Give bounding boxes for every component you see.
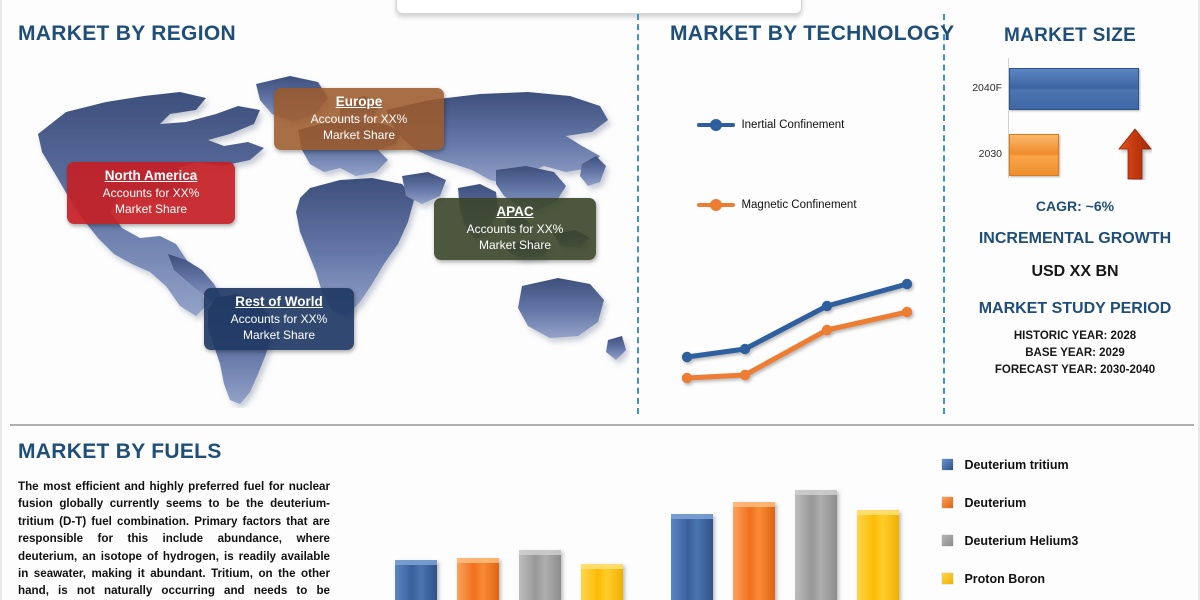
horizontal-divider [10, 424, 1194, 426]
region-callout-europe[interactable]: Europe Accounts for XX% Market Share [274, 88, 444, 150]
top-title-banner [396, 0, 802, 14]
legend-label: Inertial Confinement [741, 119, 844, 131]
base-year-label: BASE YEAR: 2029 [950, 347, 1200, 359]
region-name: APAC [444, 203, 586, 220]
legend-marker-icon [697, 203, 735, 207]
region-line-1: Accounts for XX% [214, 312, 344, 327]
incremental-growth-title: INCREMENTAL GROWTH [950, 230, 1200, 248]
region-name: Rest of World [214, 293, 344, 310]
region-name: Europe [284, 93, 434, 110]
legend-swatch-icon [942, 497, 953, 508]
market-size-panel: 2040F 2030 CAGR: ~6% INCRE [950, 58, 1200, 408]
bar-2040f [1009, 68, 1139, 110]
legend-label: Deuterium Helium3 [964, 534, 1078, 548]
infographic-page: MARKET BY REGION [0, 0, 1200, 600]
legend-item-deuterium-tritium[interactable]: Deuterium tritium [942, 456, 1192, 494]
legend-marker-icon [697, 123, 735, 127]
technology-line-chart: Inertial Confinement Magnetic Confinemen… [647, 60, 937, 405]
fuels-legend: Deuterium tritium Deuterium Deuterium He… [942, 456, 1192, 600]
line-plot-area [667, 260, 937, 390]
legend-item-inertial-confinement[interactable]: Inertial Confinement [697, 116, 937, 134]
region-line-2: Market Share [284, 128, 434, 143]
region-line-1: Accounts for XX% [77, 186, 225, 201]
region-callout-apac[interactable]: APAC Accounts for XX% Market Share [434, 198, 596, 260]
legend-label: Deuterium tritium [964, 458, 1068, 472]
section-title-market-size: MARKET SIZE [1004, 25, 1136, 47]
historic-year-label: HISTORIC YEAR: 2028 [950, 330, 1200, 342]
region-line-2: Market Share [444, 238, 586, 253]
forecast-year-label: FORECAST YEAR: 2030-2040 [950, 364, 1200, 376]
vertical-divider-left [637, 14, 639, 414]
legend-label: Proton Boron [964, 572, 1045, 586]
section-title-market-by-region: MARKET BY REGION [18, 22, 236, 46]
legend-swatch-icon [942, 459, 953, 470]
market-study-period-title: MARKET STUDY PERIOD [950, 300, 1200, 318]
growth-up-arrow-icon [1118, 128, 1152, 180]
vertical-divider-right [943, 14, 945, 414]
legend-item-magnetic-confinement[interactable]: Magnetic Confinement [697, 196, 937, 214]
section-title-market-by-technology: MARKET BY TECHNOLOGY [670, 22, 954, 46]
legend-item-deuterium-helium3[interactable]: Deuterium Helium3 [942, 532, 1192, 570]
fuels-paragraph: The most efficient and highly preferred … [18, 478, 330, 600]
fuels-bar-chart [347, 462, 917, 600]
region-line-1: Accounts for XX% [444, 222, 586, 237]
bar-category-label-2030: 2030 [952, 148, 1002, 160]
bar-2030 [1009, 134, 1059, 176]
legend-swatch-icon [942, 573, 953, 584]
region-line-2: Market Share [77, 202, 225, 217]
region-callout-rest-of-world[interactable]: Rest of World Accounts for XX% Market Sh… [204, 288, 354, 350]
region-line-2: Market Share [214, 328, 344, 343]
legend-label: Magnetic Confinement [741, 199, 856, 211]
region-name: North America [77, 167, 225, 184]
legend-item-deuterium[interactable]: Deuterium [942, 494, 1192, 532]
legend-label: Deuterium [964, 496, 1026, 510]
incremental-growth-value: USD XX BN [950, 263, 1200, 281]
region-callout-north-america[interactable]: North America Accounts for XX% Market Sh… [67, 162, 235, 224]
region-line-1: Accounts for XX% [284, 112, 434, 127]
legend-swatch-icon [942, 535, 953, 546]
section-title-market-by-fuels: MARKET BY FUELS [18, 440, 222, 464]
legend-item-proton-boron[interactable]: Proton Boron [942, 570, 1192, 600]
cagr-label: CAGR: ~6% [950, 198, 1200, 214]
bar-category-label-2040f: 2040F [952, 82, 1002, 94]
